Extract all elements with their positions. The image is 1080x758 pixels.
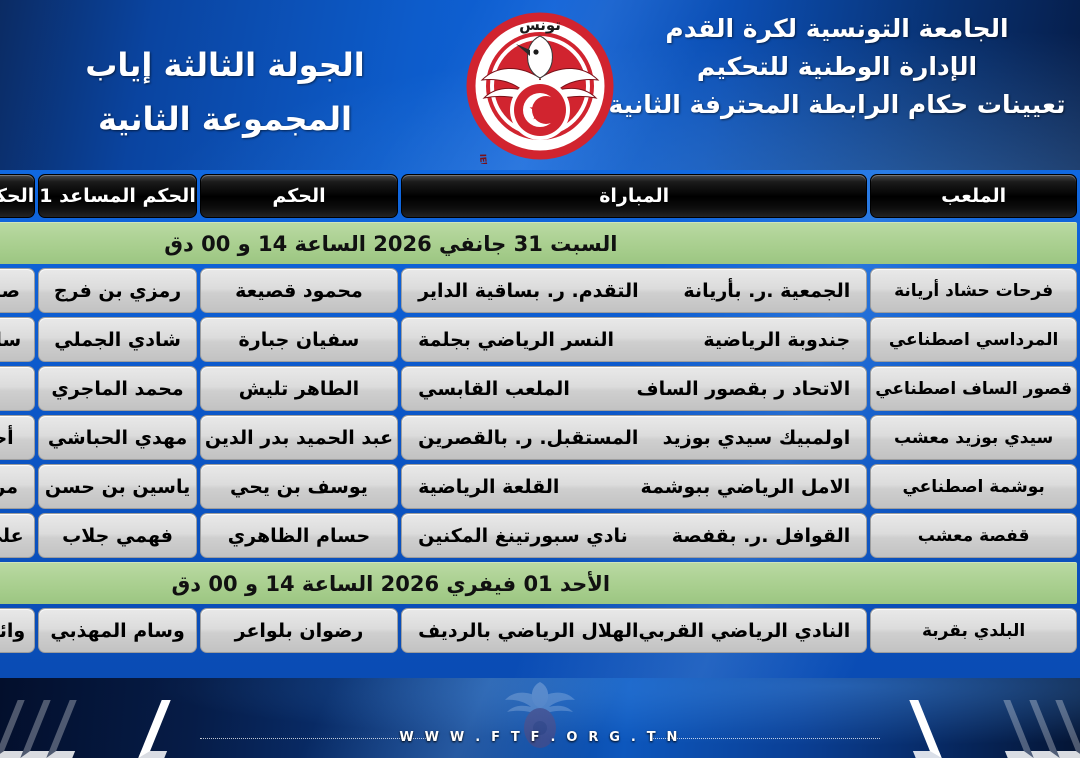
match-away-team: القلعة الرياضية <box>418 476 559 498</box>
table-row: قصور الساف اصطناعيالاتحاد ر بقصور السافا… <box>0 366 1077 411</box>
cell-assistant1: فهمي جلاب <box>38 513 197 558</box>
cell-match: الجمعية .ر. بأريانةالتقدم. ر. بساقية الد… <box>401 268 867 313</box>
cell-match: الاتحاد ر بقصور السافالملعب القابسي <box>401 366 867 411</box>
match-home-team: الجمعية .ر. بأريانة <box>683 280 850 302</box>
match-away-team: النسر الرياضي بجلمة <box>418 329 614 351</box>
cell-referee: سفيان جبارة <box>200 317 398 362</box>
cell-stade: بوشمة اصطناعي <box>870 464 1077 509</box>
table-header-row: الملعب المباراة الحكم الحكم المساعد 1 ال… <box>0 174 1077 218</box>
cell-stade: سيدي بوزيد معشب <box>870 415 1077 460</box>
cell-stade: فرحات حشاد أريانة <box>870 268 1077 313</box>
cell-assistant1: رمزي بن فرج <box>38 268 197 313</box>
match-home-team: جندوبة الرياضية <box>703 329 850 351</box>
table-body: السبت 31 جانفي 2026 الساعة 14 و 00 دقفرح… <box>0 222 1077 653</box>
round-title-block: الجولة الثالثة إياب المجموعة الثانية <box>40 38 410 147</box>
table-row: المرداسي اصطناعيجندوبة الرياضيةالنسر الر… <box>0 317 1077 362</box>
table-row: فرحات حشاد أريانةالجمعية .ر. بأريانةالتق… <box>0 268 1077 313</box>
match-away-team: الهلال الرياضي بالرديف <box>418 620 638 642</box>
cell-assistant1: شادي الجملي <box>38 317 197 362</box>
column-header-assistant2: الحكم المساعد 2 <box>0 174 35 218</box>
cell-referee: يوسف بن يحي <box>200 464 398 509</box>
date-banner-row: الأحد 01 فيفري 2026 الساعة 14 و 00 دق <box>0 562 1077 604</box>
cell-match: الامل الرياضي ببوشمةالقلعة الرياضية <box>401 464 867 509</box>
cell-assistant2: أحمد قيزاني <box>0 415 35 460</box>
cell-assistant2: صبري الكناني <box>0 268 35 313</box>
match-home-team: النادي الرياضي القربي <box>638 620 850 642</box>
federation-title-block: الجامعة التونسية لكرة القدم الإدارة الوط… <box>602 10 1072 124</box>
cell-referee: رضوان بلواعر <box>200 608 398 653</box>
match-away-team: المستقبل. ر. بالقصرين <box>418 427 638 449</box>
cell-assistant2: سامي البلطي <box>0 317 35 362</box>
cell-match: النادي الرياضي القربيالهلال الرياضي بالر… <box>401 608 867 653</box>
cell-match: جندوبة الرياضيةالنسر الرياضي بجلمة <box>401 317 867 362</box>
cell-assistant2: بلال سعد <box>0 366 35 411</box>
cell-match: اولمبيك سيدي بوزيدالمستقبل. ر. بالقصرين <box>401 415 867 460</box>
column-header-assistant1: الحكم المساعد 1 <box>38 174 197 218</box>
match-home-team: الامل الرياضي ببوشمة <box>641 476 851 498</box>
cell-referee: الطاهر تليش <box>200 366 398 411</box>
date-banner-row: السبت 31 جانفي 2026 الساعة 14 و 00 دق <box>0 222 1077 264</box>
cell-stade: قفصة معشب <box>870 513 1077 558</box>
date-banner-label: الأحد 01 فيفري 2026 الساعة 14 و 00 دق <box>0 562 1077 604</box>
department-name: الإدارة الوطنية للتحكيم <box>602 48 1072 86</box>
cell-stade: قصور الساف اصطناعي <box>870 366 1077 411</box>
svg-text:تونس: تونس <box>519 16 561 34</box>
table-row: البلدي بقربةالنادي الرياضي القربيالهلال … <box>0 608 1077 653</box>
page-footer: W W W . F T F . O R G . T N <box>0 678 1080 758</box>
match-home-team: اولمبيك سيدي بوزيد <box>663 427 851 449</box>
column-header-stade: الملعب <box>870 174 1077 218</box>
cell-assistant1: ياسين بن حسن <box>38 464 197 509</box>
date-banner-label: السبت 31 جانفي 2026 الساعة 14 و 00 دق <box>0 222 1077 264</box>
match-away-team: التقدم. ر. بساقية الداير <box>418 280 639 302</box>
federation-name: الجامعة التونسية لكرة القدم <box>602 10 1072 48</box>
page-header: الجولة الثالثة إياب المجموعة الثانية <box>0 0 1080 170</box>
cell-referee: حسام الظاهري <box>200 513 398 558</box>
match-home-team: القوافل .ر. بقفصة <box>672 525 850 547</box>
cell-referee: عبد الحميد بدر الدين <box>200 415 398 460</box>
cell-stade: البلدي بقربة <box>870 608 1077 653</box>
cell-assistant1: محمد الماجري <box>38 366 197 411</box>
assignments-table-area: الملعب المباراة الحكم الحكم المساعد 1 ال… <box>0 170 1080 678</box>
round-title-line2: المجموعة الثانية <box>40 92 410 146</box>
match-away-team: نادي سبورتينغ المكنين <box>418 525 628 547</box>
cell-assistant1: وسام المهذبي <box>38 608 197 653</box>
column-header-match: المباراة <box>401 174 867 218</box>
cell-assistant2: وائل السواسي <box>0 608 35 653</box>
website-url[interactable]: W W W . F T F . O R G . T N <box>0 730 1080 745</box>
round-title-line1: الجولة الثالثة إياب <box>40 38 410 92</box>
ftf-logo: تونس FÉDÉRATION TUNISIENNE DE FOOTBALL <box>460 6 620 164</box>
assignment-sheet: الجولة الثالثة إياب المجموعة الثانية <box>0 0 1080 758</box>
cell-stade: المرداسي اصطناعي <box>870 317 1077 362</box>
match-home-team: الاتحاد ر بقصور الساف <box>637 378 851 400</box>
table-row: سيدي بوزيد معشباولمبيك سيدي بوزيدالمستقب… <box>0 415 1077 460</box>
cell-assistant1: مهدي الحباشي <box>38 415 197 460</box>
table-row: بوشمة اصطناعيالامل الرياضي ببوشمةالقلعة … <box>0 464 1077 509</box>
cell-assistant2: مروان حمودة <box>0 464 35 509</box>
table-row: قفصة معشبالقوافل .ر. بقفصةنادي سبورتينغ … <box>0 513 1077 558</box>
cell-assistant2: علي أولاد علي <box>0 513 35 558</box>
assignments-subtitle: تعيينات حكام الرابطة المحترفة الثانية <box>602 86 1072 124</box>
match-away-team: الملعب القابسي <box>418 378 570 400</box>
assignments-table: الملعب المباراة الحكم الحكم المساعد 1 ال… <box>0 170 1080 657</box>
cell-referee: محمود قصيعة <box>200 268 398 313</box>
cell-match: القوافل .ر. بقفصةنادي سبورتينغ المكنين <box>401 513 867 558</box>
column-header-referee: الحكم <box>200 174 398 218</box>
